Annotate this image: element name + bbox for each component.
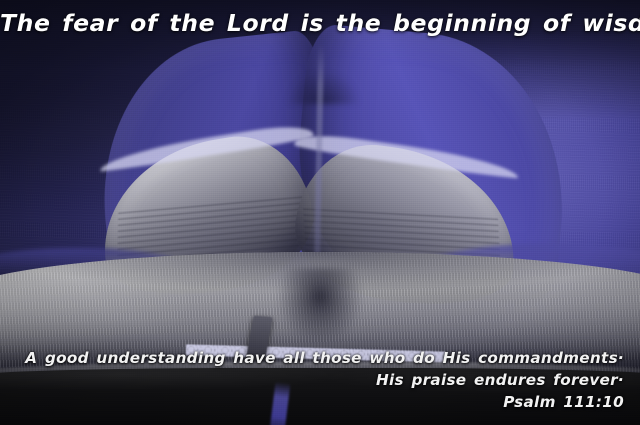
headline-verse-text: The fear of the Lord is the beginning of… xyxy=(0,9,640,37)
scripture-reference: Psalm 111:10 xyxy=(25,391,624,413)
inspirational-verse-image: The fear of the Lord is the beginning of… xyxy=(0,0,640,425)
footer-verse-line-2: His praise endures forever· xyxy=(25,369,624,391)
footer-verse-block: A good understanding have all those who … xyxy=(25,347,624,413)
footer-verse-line-1: A good understanding have all those who … xyxy=(25,347,624,369)
